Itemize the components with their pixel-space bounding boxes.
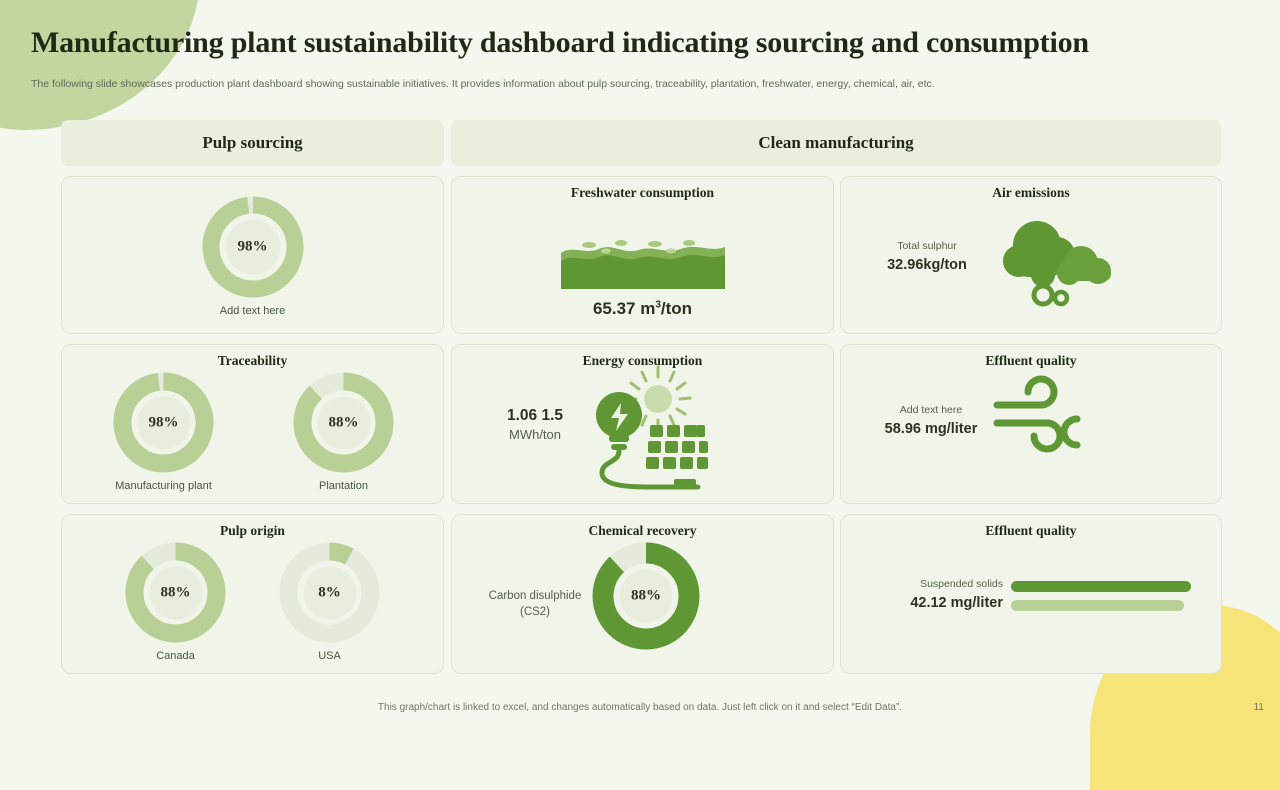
air-emissions-value: 32.96kg/ton [867,257,987,273]
effluent-bar-group [1011,581,1191,611]
donut-caption: Manufacturing plant [112,480,215,492]
donut-chart: 88% [591,541,701,651]
air-emissions-label: Total sulphur [867,239,987,253]
card-title-effluent-bottom: Effluent quality [841,523,1221,539]
dashboard-slide: Manufacturing plant sustainability dashb… [0,0,1280,720]
card-title-effluent-mid: Effluent quality [841,353,1221,369]
card-pulp-origin[interactable]: Pulp origin 88% Canada 8% USA [61,514,444,674]
card-effluent-quality-mid[interactable]: Effluent quality Add text here 58.96 mg/… [840,344,1222,504]
donut-chemical-recovery: 88% [591,541,701,651]
donut-center-label: 98% [225,220,280,275]
chemical-recovery-metric: Carbon disulphide (CS2) [460,589,610,620]
donut-caption: Canada [124,650,227,662]
donut-traceability-manufacturing-plant: 98% Manufacturing plant [112,371,215,492]
donut-center-label: 8% [303,566,356,619]
freshwater-value: 65.37 m3/ton [452,299,833,319]
card-effluent-quality-bottom[interactable]: Effluent quality Suspended solids 42.12 … [840,514,1222,674]
clouds-icon [999,219,1119,312]
page-number: 11 [1254,702,1264,713]
donut-caption: USA [278,650,381,662]
effluent-bottom-value: 42.12 mg/liter [853,595,1003,611]
section-title-clean-manufacturing: Clean manufacturing [758,133,913,153]
donut-chart: 98% [201,195,305,299]
page-title: Manufacturing plant sustainability dashb… [31,26,1089,60]
water-grass-icon [559,235,727,296]
donut-pulp-origin-usa: 8% USA [278,541,381,662]
donut-pulp-origin-canada: 88% Canada [124,541,227,662]
donut-center-label: 98% [137,396,190,449]
energy-value: 1.06 1.5 [470,407,600,425]
effluent-bottom-metric: Suspended solids 42.12 mg/liter [853,577,1003,611]
card-traceability[interactable]: Traceability 98% Manufacturing plant 88%… [61,344,444,504]
section-header-pulp-sourcing: Pulp sourcing [61,120,444,166]
donut-center-label: 88% [149,566,202,619]
freshwater-value-main: 65.37 m [593,299,655,318]
donut-center-label: 88% [620,570,673,623]
chemical-recovery-label: Carbon disulphide (CS2) [460,589,610,620]
card-freshwater-consumption[interactable]: Freshwater consumption 65.37 m3/ton [451,176,834,334]
effluent-mid-value: 58.96 mg/liter [861,421,1001,437]
donut-center-label: 88% [317,396,370,449]
donut-chart: 8% [278,541,381,644]
section-header-clean-manufacturing: Clean manufacturing [451,120,1221,166]
section-title-pulp-sourcing: Pulp sourcing [202,133,302,153]
donut-chart: 88% [292,371,395,474]
card-air-emissions[interactable]: Air emissions Total sulphur 32.96kg/ton [840,176,1222,334]
page-subtitle: The following slide showcases production… [31,78,935,90]
effluent-bottom-label: Suspended solids [853,577,1003,591]
donut-traceability-plantation: 88% Plantation [292,371,395,492]
card-title-freshwater: Freshwater consumption [452,185,833,201]
freshwater-value-tail: /ton [661,299,692,318]
energy-metric: 1.06 1.5 MWh/ton [470,407,600,444]
effluent-mid-label: Add text here [861,403,1001,417]
footer-note: This graph/chart is linked to excel, and… [0,702,1280,713]
air-emissions-metric: Total sulphur 32.96kg/ton [867,239,987,273]
wind-icon [993,375,1103,466]
energy-unit: MWh/ton [470,426,600,444]
card-chemical-recovery[interactable]: Chemical recovery Carbon disulphide (CS2… [451,514,834,674]
bulb-sun-solar-icon [586,363,736,500]
donut-caption: Plantation [292,480,395,492]
card-pulp-sourcing-overall[interactable]: 98% Add text here [61,176,444,334]
donut-pulp-overall: 98% Add text here [201,195,305,317]
bar-dark [1011,581,1191,592]
card-energy-consumption[interactable]: Energy consumption 1.06 1.5 MWh/ton [451,344,834,504]
card-title-traceability: Traceability [62,353,443,369]
card-title-air-emissions: Air emissions [841,185,1221,201]
effluent-mid-metric: Add text here 58.96 mg/liter [861,403,1001,437]
bar-light [1011,600,1184,611]
donut-caption: Add text here [201,305,305,317]
card-title-chemical-recovery: Chemical recovery [452,523,833,539]
card-title-pulp-origin: Pulp origin [62,523,443,539]
donut-chart: 98% [112,371,215,474]
donut-chart: 88% [124,541,227,644]
